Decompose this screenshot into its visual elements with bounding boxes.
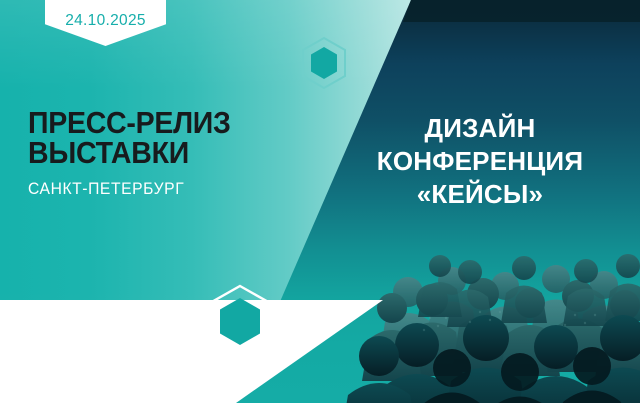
headline-line-2: ВЫСТАВКИ [28,138,267,168]
event-title-line-1: ДИЗАЙН [330,112,630,145]
press-release-headline: ПРЕСС-РЕЛИЗ ВЫСТАВКИ [28,108,267,168]
event-title-line-3: «КЕЙСЫ» [330,178,630,211]
left-text-block: ПРЕСС-РЕЛИЗ ВЫСТАВКИ САНКТ-ПЕТЕРБУРГ [28,108,288,199]
hexagon-icon-bottom [205,283,275,361]
city-subtitle: САНКТ-ПЕТЕРБУРГ [28,180,275,199]
press-release-poster: 24.10.2025 ПРЕСС-РЕЛИЗ ВЫСТАВКИ САНКТ-ПЕ… [0,0,640,403]
right-text-block: ДИЗАЙН КОНФЕРЕНЦИЯ «КЕЙСЫ» [330,112,630,211]
event-title-line-2: КОНФЕРЕНЦИЯ [330,145,630,178]
hexagon-icon-top [300,36,348,90]
